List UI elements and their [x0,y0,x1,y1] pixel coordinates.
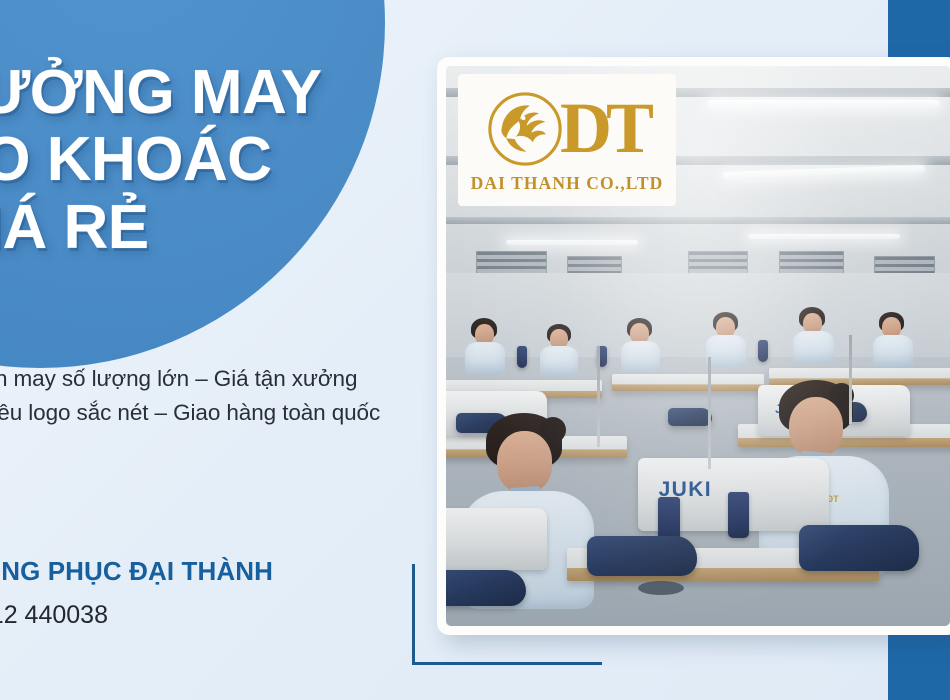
photo-worktable [612,374,763,391]
photo-ceiling-beam [446,217,950,224]
brand-block: ĐỒNG PHỤC ĐẠI THÀNH 0912 440038 [0,556,392,630]
photo-sewing-machine-foreground [446,508,547,570]
factory-photo: JUKI ĐT ĐT [446,66,950,626]
headline-line-3: GIÁ RẺ [0,197,408,258]
logo-caption: DAI THANH CO.,LTD [471,173,664,194]
company-logo: DT DAI THANH CO.,LTD [458,74,676,206]
photo-light-tube [708,100,940,107]
brand-phone: 0912 440038 [0,600,392,630]
photo-thread-spool [728,492,749,538]
headline-line-2: ÁO KHOÁC [0,129,408,190]
photo-fabric-pile [668,408,712,426]
headline: XƯỞNG MAY ÁO KHOÁC GIÁ RẺ [0,62,408,264]
photo-thread-spool-base [638,581,684,595]
brand-name: ĐỒNG PHỤC ĐẠI THÀNH [0,556,392,587]
photo-light-tube [748,234,899,239]
photo-thread-spool [517,346,527,368]
photo-machine-arm [597,346,600,447]
photo-thread-spool [758,340,768,362]
photo-machine-arm [849,335,852,425]
photo-fabric-pile-foreground [799,525,919,571]
subtitle-line-1: Nhận may số lượng lớn – Giá tận xưởng [0,362,424,396]
photo-fabric-pile-foreground [587,536,697,576]
advertising-banner: XƯỞNG MAY ÁO KHOÁC GIÁ RẺ Nhận may số lư… [0,0,950,700]
photo-light-tube [506,240,637,245]
dragon-emblem-icon [486,90,564,168]
factory-photo-card: JUKI ĐT ĐT [437,57,950,635]
photo-machine-arm [708,357,711,469]
photo-worktable [769,368,950,385]
headline-line-1: XƯỞNG MAY [0,62,408,123]
subtitle: Nhận may số lượng lớn – Giá tận xưởng In… [0,362,424,430]
photo-fabric-pile-foreground [446,570,526,606]
logo-monogram: DT [560,99,648,158]
subtitle-line-2: In thêu logo sắc nét – Giao hàng toàn qu… [0,396,424,430]
